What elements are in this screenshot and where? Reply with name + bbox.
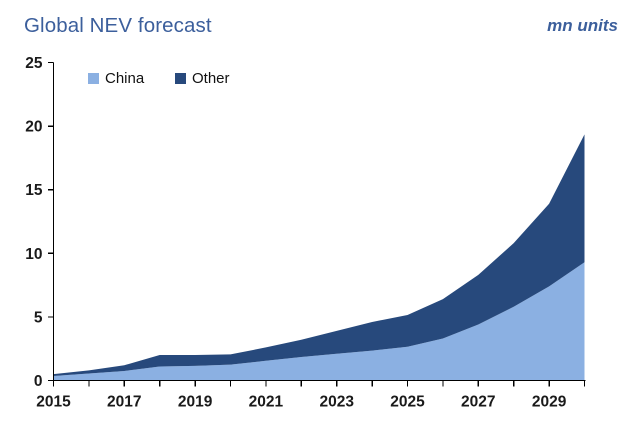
x-tick-label: 2015 — [36, 394, 71, 411]
x-tick-label: 2025 — [390, 394, 425, 411]
legend-label-other: Other — [192, 70, 230, 87]
legend-swatch-china — [88, 73, 99, 84]
y-tick-label: 10 — [25, 246, 42, 263]
y-tick-label: 0 — [34, 373, 43, 390]
y-tick-label: 5 — [34, 309, 43, 326]
x-tick-label: 2029 — [532, 394, 567, 411]
x-tick-label: 2019 — [178, 394, 213, 411]
series-areas — [54, 134, 585, 380]
x-tick-label: 2023 — [319, 394, 354, 411]
y-tick-label: 20 — [25, 119, 42, 136]
y-tick-label: 15 — [25, 182, 43, 199]
x-axis-ticks: 20152017201920212023202520272029 — [36, 381, 584, 411]
x-tick-label: 2027 — [461, 394, 495, 411]
x-tick-label: 2021 — [249, 394, 284, 411]
chart-legend: ChinaOther — [88, 70, 230, 87]
y-axis-ticks: 0510152025 — [25, 55, 53, 390]
chart-card: Global NEV forecast mn units 0510152025 … — [0, 0, 640, 444]
plot-area: 0510152025 20152017201920212023202520272… — [0, 44, 640, 444]
legend-label-china: China — [105, 70, 145, 87]
chart-units-label: mn units — [547, 16, 618, 36]
y-tick-label: 25 — [25, 55, 43, 72]
stacked-area-chart: 0510152025 20152017201920212023202520272… — [0, 44, 640, 444]
legend-swatch-other — [175, 73, 186, 84]
page-title: Global NEV forecast — [24, 14, 212, 38]
x-tick-label: 2017 — [107, 394, 141, 411]
